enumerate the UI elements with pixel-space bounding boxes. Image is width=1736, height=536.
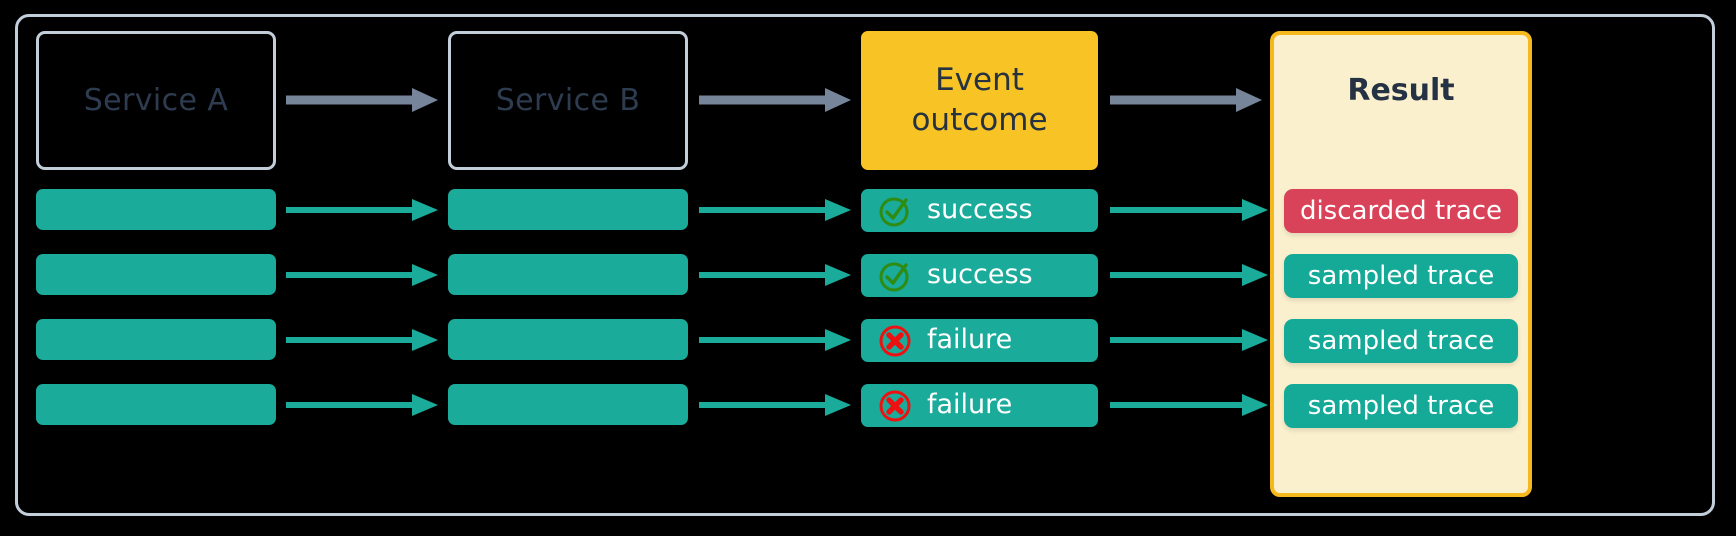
x-circle-icon [877, 323, 913, 359]
row-arrow-1-c [1110, 196, 1270, 224]
arrow-event-outcome-to-result [1110, 86, 1264, 114]
header-service-b: Service B [448, 31, 688, 170]
row-arrow-4-b [699, 391, 853, 419]
result-badge-label: sampled trace [1308, 261, 1494, 291]
check-circle-icon [877, 258, 913, 294]
row-arrow-3-b [699, 326, 853, 354]
table-row [36, 189, 276, 230]
header-service-a: Service A [36, 31, 276, 170]
x-circle-icon [877, 388, 913, 424]
result-badge-label: sampled trace [1308, 326, 1494, 356]
row-arrow-1-b [699, 196, 853, 224]
table-row [448, 189, 688, 230]
outcome-pill-row-3: failure [861, 319, 1098, 362]
result-badge-label: discarded trace [1300, 196, 1502, 226]
row-arrow-2-a [286, 261, 440, 289]
result-badge-row-4: sampled trace [1284, 384, 1518, 428]
arrow-service-a-to-service-b [286, 86, 440, 114]
row-arrow-4-c [1110, 391, 1270, 419]
row-arrow-1-a [286, 196, 440, 224]
table-row [36, 384, 276, 425]
outcome-pill-row-4: failure [861, 384, 1098, 427]
header-service-a-label: Service A [84, 83, 229, 118]
table-row [448, 254, 688, 295]
row-arrow-3-c [1110, 326, 1270, 354]
header-event-outcome-line1: Event [935, 62, 1024, 98]
outcome-label: success [927, 196, 1033, 225]
result-badge-row-2: sampled trace [1284, 254, 1518, 298]
header-event-outcome-label: Event outcome [911, 61, 1047, 140]
result-panel-title: Result [1274, 73, 1528, 108]
check-circle-icon [877, 193, 913, 229]
row-arrow-3-a [286, 326, 440, 354]
row-arrow-2-c [1110, 261, 1270, 289]
outcome-label: failure [927, 391, 1012, 420]
result-badge-row-1: discarded trace [1284, 189, 1518, 233]
table-row [36, 319, 276, 360]
table-row [448, 319, 688, 360]
table-row [448, 384, 688, 425]
result-badge-label: sampled trace [1308, 391, 1494, 421]
row-arrow-2-b [699, 261, 853, 289]
outcome-pill-row-2: success [861, 254, 1098, 297]
header-event-outcome: Event outcome [861, 31, 1098, 170]
diagram-canvas: Service A Service B Event outcome Result [0, 0, 1736, 536]
header-event-outcome-line2: outcome [911, 102, 1047, 138]
table-row [36, 254, 276, 295]
result-badge-row-3: sampled trace [1284, 319, 1518, 363]
outcome-label: success [927, 261, 1033, 290]
outcome-pill-row-1: success [861, 189, 1098, 232]
row-arrow-4-a [286, 391, 440, 419]
header-service-b-label: Service B [496, 83, 641, 118]
arrow-service-b-to-event-outcome [699, 86, 853, 114]
outcome-label: failure [927, 326, 1012, 355]
